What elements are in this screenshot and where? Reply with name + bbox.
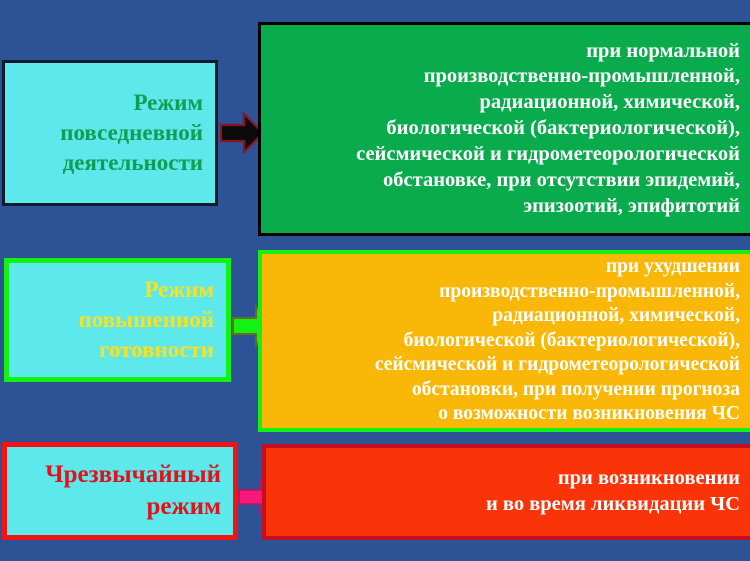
mode-box-heightened-line-1: Режим: [17, 275, 214, 305]
desc-heightened-line-5: сейсмической и гидрометеорологической: [272, 353, 740, 378]
desc-heightened-line-1: при ухудшении: [272, 255, 740, 280]
mode-box-heightened-line-2: повышенной: [17, 305, 214, 335]
desc-box-normal: при нормальной производственно-промышлен…: [258, 22, 750, 236]
mode-box-normal-line-3: деятельности: [13, 148, 203, 178]
mode-box-normal: Режим повседневной деятельности: [2, 60, 218, 206]
desc-normal-line-6: обстановке, при отсутствии эпидемий,: [271, 168, 740, 194]
desc-box-heightened: при ухудшении производственно-промышленн…: [258, 250, 750, 432]
desc-heightened-line-7: о возможности возникновения ЧС: [272, 402, 740, 427]
mode-box-emergency-line-1: Чрезвычайный: [15, 459, 221, 492]
desc-normal-line-7: эпизоотий, эпифитотий: [271, 194, 740, 220]
mode-box-normal-line-1: Режим: [13, 88, 203, 118]
desc-heightened-line-2: производственно-промышленной,: [272, 280, 740, 305]
desc-normal-line-2: производственно-промышленной,: [271, 64, 740, 90]
desc-emergency-line-1: при возникновении: [276, 466, 740, 492]
desc-normal-line-4: биологической (бактериологической),: [271, 116, 740, 142]
desc-normal-line-1: при нормальной: [271, 39, 740, 65]
desc-emergency-line-2: и во время ликвидации ЧС: [276, 492, 740, 518]
desc-box-emergency: при возникновении и во время ликвидации …: [262, 444, 750, 540]
slide-canvas: Режим повседневной деятельности при норм…: [0, 0, 750, 561]
mode-box-emergency-line-2: режим: [15, 491, 221, 524]
desc-heightened-line-3: радиационной, химической,: [272, 304, 740, 329]
desc-heightened-line-4: биологической (бактериологической),: [272, 329, 740, 354]
mode-box-heightened: Режим повышенной готовности: [4, 258, 231, 382]
desc-heightened-line-6: обстановки, при получении прогноза: [272, 378, 740, 403]
mode-box-heightened-line-3: готовности: [17, 335, 214, 365]
mode-box-normal-line-2: повседневной: [13, 118, 203, 148]
mode-box-emergency: Чрезвычайный режим: [2, 442, 238, 540]
desc-normal-line-3: радиационной, химической,: [271, 90, 740, 116]
desc-normal-line-5: сейсмической и гидрометеорологической: [271, 142, 740, 168]
